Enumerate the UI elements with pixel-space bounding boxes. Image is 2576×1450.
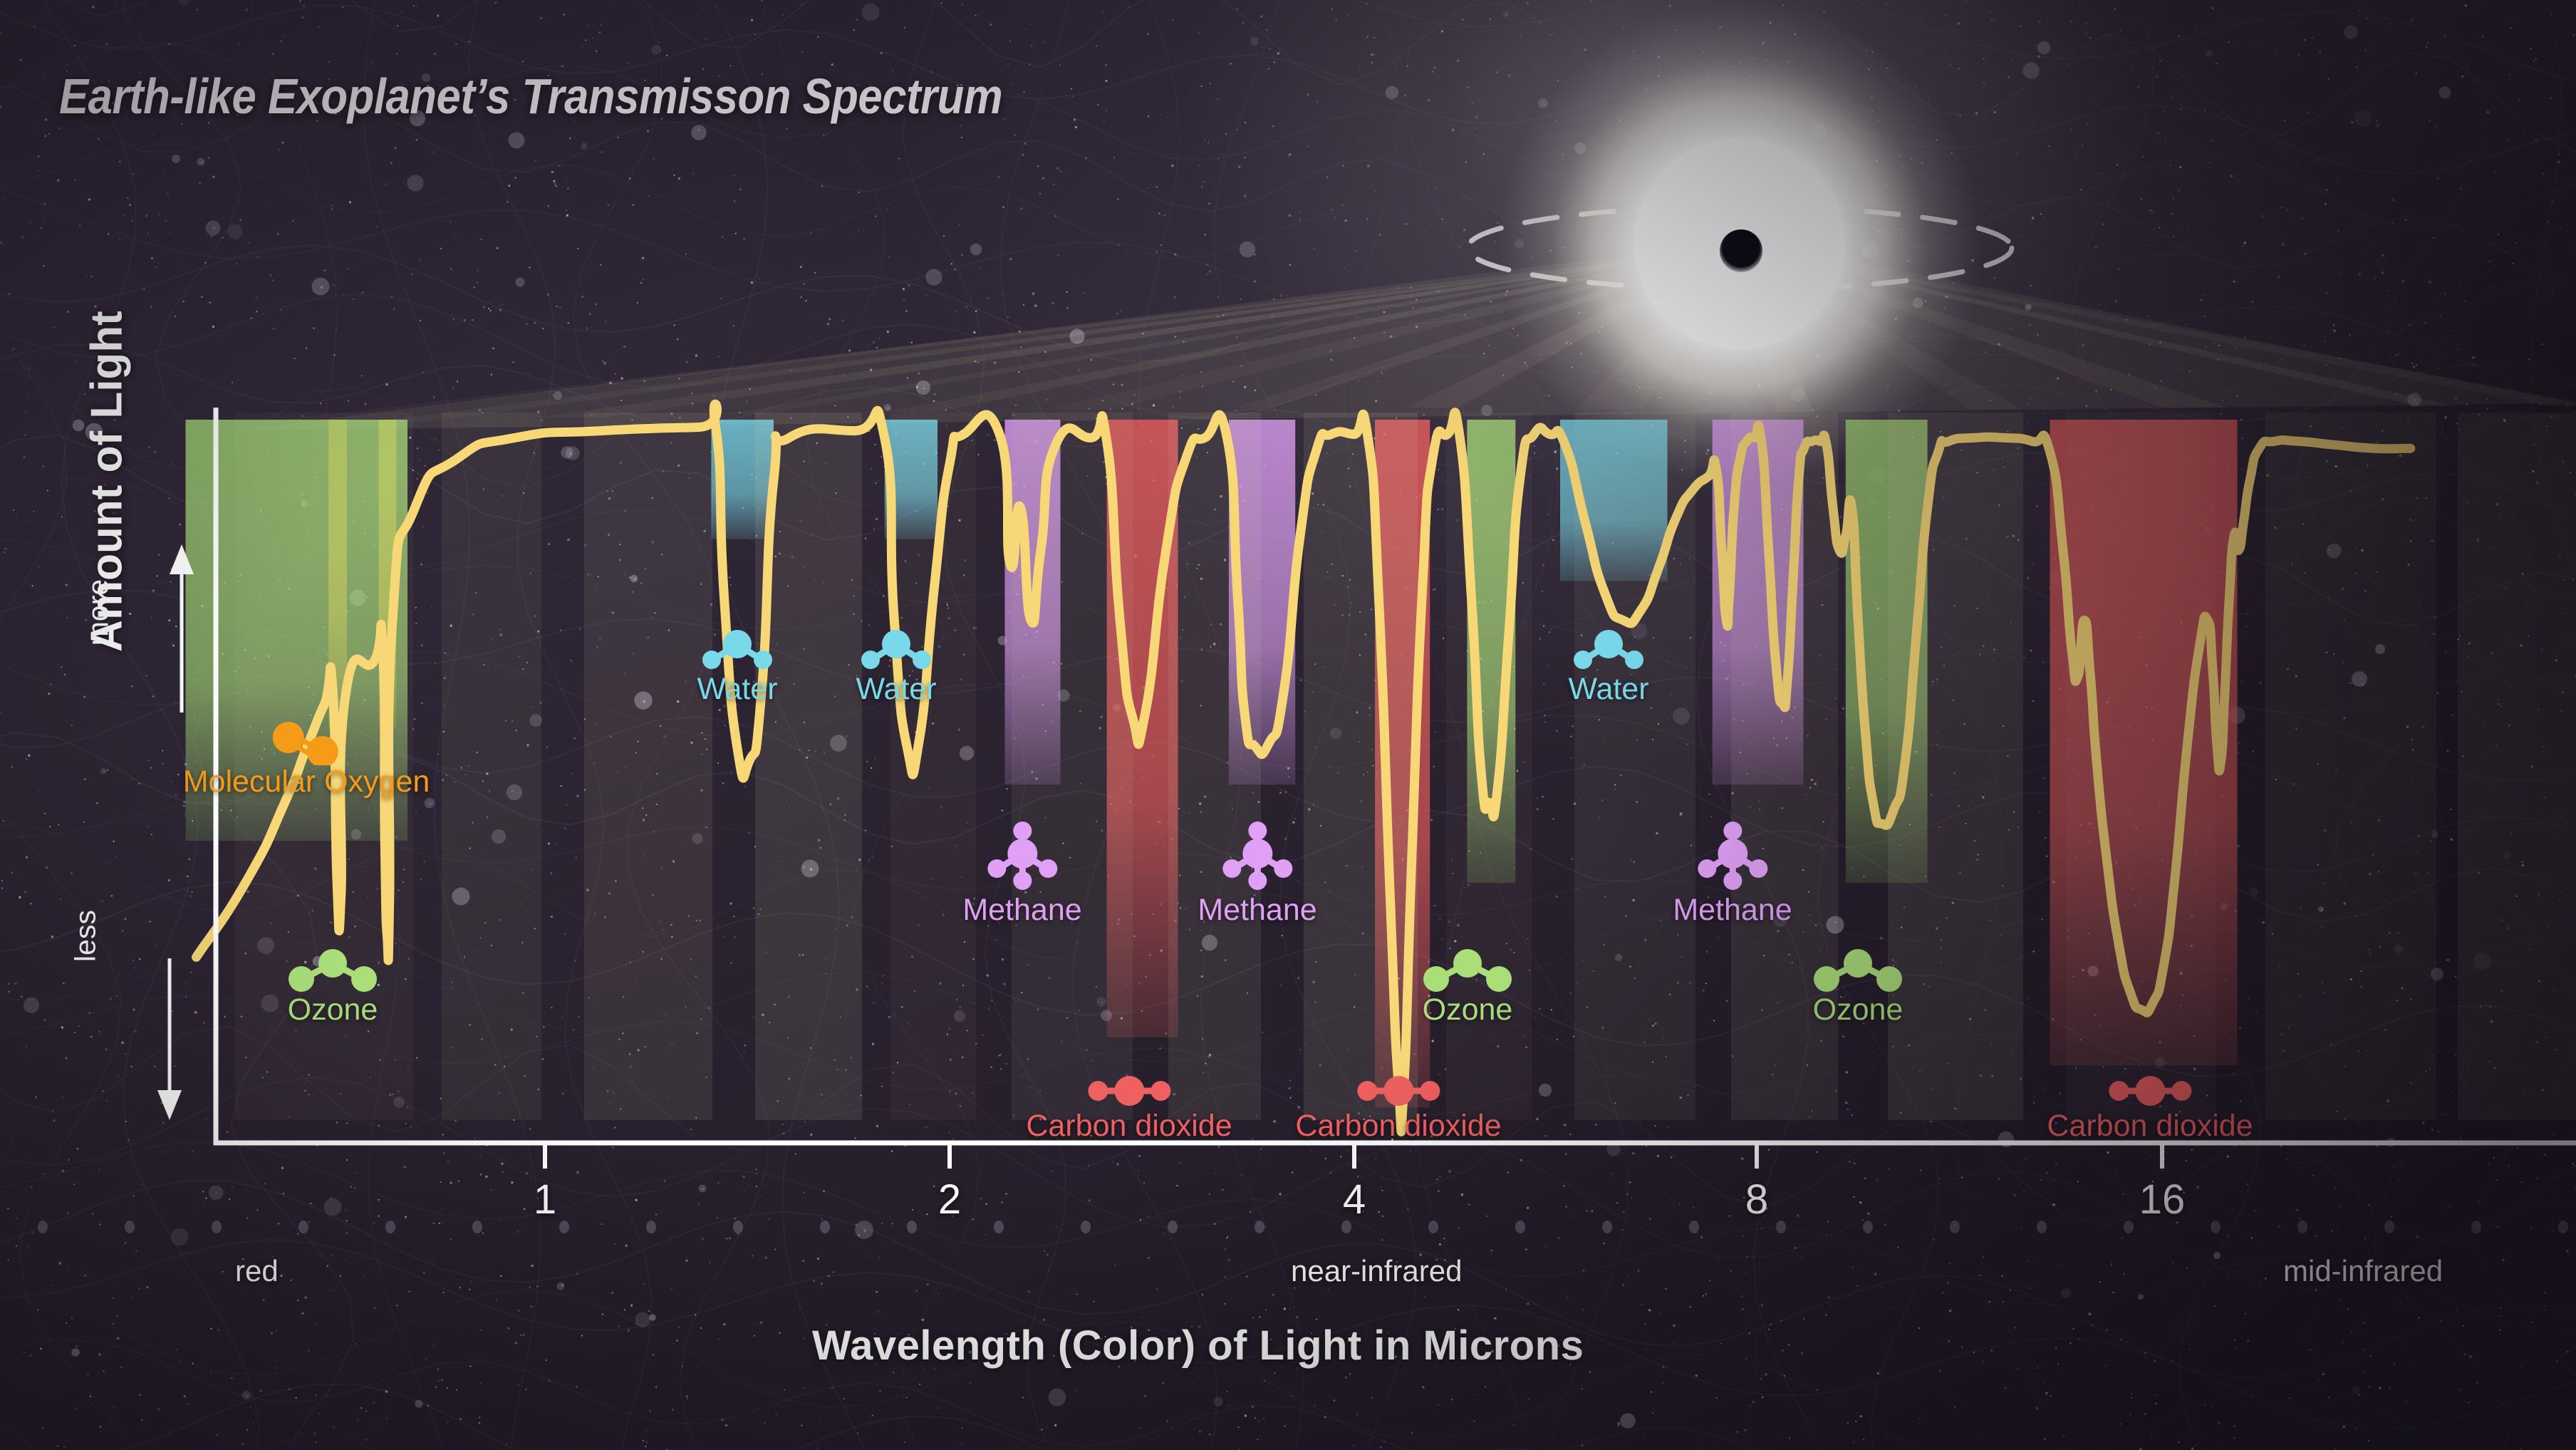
vignette-overlay bbox=[0, 0, 2576, 1450]
infographic-canvas: Earth-like Exoplanet’s Transmisson Spect… bbox=[0, 0, 2576, 1450]
